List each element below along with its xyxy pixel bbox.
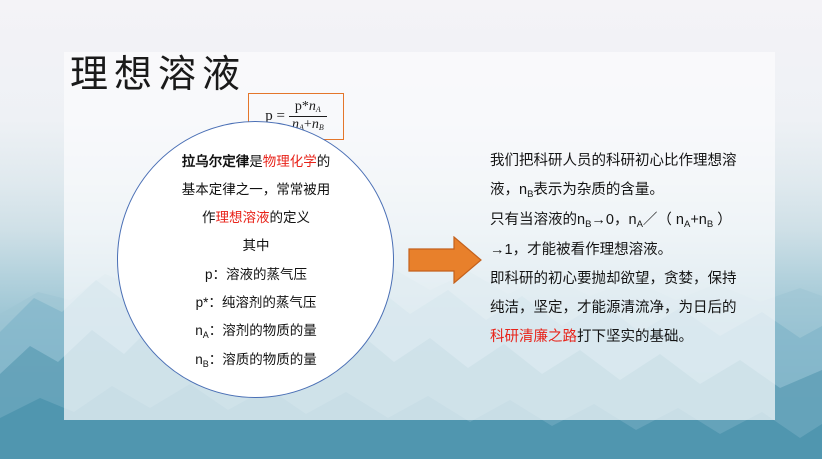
right-line3-d: +n [690,212,707,228]
right-line3-sub1: B [585,219,591,230]
circle-line1-b: 是 [249,154,263,169]
right-line3-e: ） [713,212,732,228]
symbol-def-na: nA：溶剂的物质的量 [150,317,362,346]
circle-ideal-solution-term: 理想溶液 [216,210,270,225]
circle-text-block: 拉乌尔定律是物理化学的 基本定律之一，常常被用 作理想溶液的定义 其中 p：溶液… [150,148,362,375]
right-line3-sub4: B [707,219,713,230]
right-line2-a: 液，n [490,182,527,198]
circle-line-3: 作理想溶液的定义 [150,204,362,232]
integrity-path-term: 科研清廉之路 [490,329,577,345]
formula-den-sub2: B [319,123,324,132]
symbol-def-pstar: p*：纯溶剂的蒸气压 [150,289,362,317]
symbol-na-desc: ：溶剂的物质的量 [209,323,317,338]
right-line-4: →1，才能被看作理想溶液。 [490,236,790,265]
circle-line-2: 基本定律之一，常常被用 [150,176,362,204]
right-line-7: 科研清廉之路打下坚实的基础。 [490,323,790,352]
right-line3-b: →0，n [591,212,636,228]
right-arrow-icon [408,236,482,284]
right-line7-b: 打下坚实的基础。 [577,329,693,345]
right-line-1: 我们把科研人员的科研初心比作理想溶 [490,147,790,176]
right-line-2: 液，nB表示为杂质的含量。 [490,176,790,206]
right-line-6: 纯洁，坚定，才能源清流净，为日后的 [490,294,790,323]
right-line3-a: 只有当溶液的n [490,212,585,228]
symbol-nb-desc: ：溶质的物质的量 [209,352,317,367]
right-line-5: 即科研的初心要抛却欲望，贪婪，保持 [490,265,790,294]
explanation-text-block: 我们把科研人员的科研初心比作理想溶 液，nB表示为杂质的含量。 只有当溶液的nB… [490,147,790,352]
slide-canvas: 理想溶液 p = p*nA nA+nB 拉乌尔定律是物理化学的 基本定律之一，常… [0,0,822,459]
symbol-p: p [205,267,213,282]
circle-line3-a: 作 [202,210,216,225]
formula-den-n2: n [312,117,319,132]
circle-line1-d: 的 [317,154,331,169]
formula-num-pstar: p* [295,99,309,114]
symbol-p-desc: ：溶液的蒸气压 [213,267,308,282]
right-line3-sub3: A [684,219,690,230]
circle-line-4: 其中 [150,232,362,260]
symbol-na: n [195,323,203,338]
formula-num-n: n [309,99,316,114]
circle-physchem-term: 物理化学 [263,154,317,169]
right-line2-b: 表示为杂质的含量。 [533,182,664,198]
right-line3-sub2: A [637,219,643,230]
symbol-nb: n [195,352,203,367]
symbol-pstar: p [196,295,204,310]
symbol-pstar-desc: ：纯溶剂的蒸气压 [208,295,316,310]
right-line2-sub: B [527,189,533,200]
symbol-na-sub: A [203,330,209,340]
circle-line3-c: 的定义 [270,210,311,225]
symbol-nb-sub: B [203,359,209,369]
symbol-def-p: p：溶液的蒸气压 [150,261,362,289]
formula-num-sub: A [316,105,321,114]
circle-raoult-law-term: 拉乌尔定律 [182,154,250,169]
formula-numerator: p*nA [292,100,324,116]
right-line3-c: ／（ n [643,212,684,228]
right-line-3: 只有当溶液的nB→0，nA／（ nA+nB ） [490,206,790,236]
page-title: 理想溶液 [70,52,246,98]
symbol-def-nb: nB：溶质的物质的量 [150,346,362,375]
circle-line-1: 拉乌尔定律是物理化学的 [150,148,362,176]
